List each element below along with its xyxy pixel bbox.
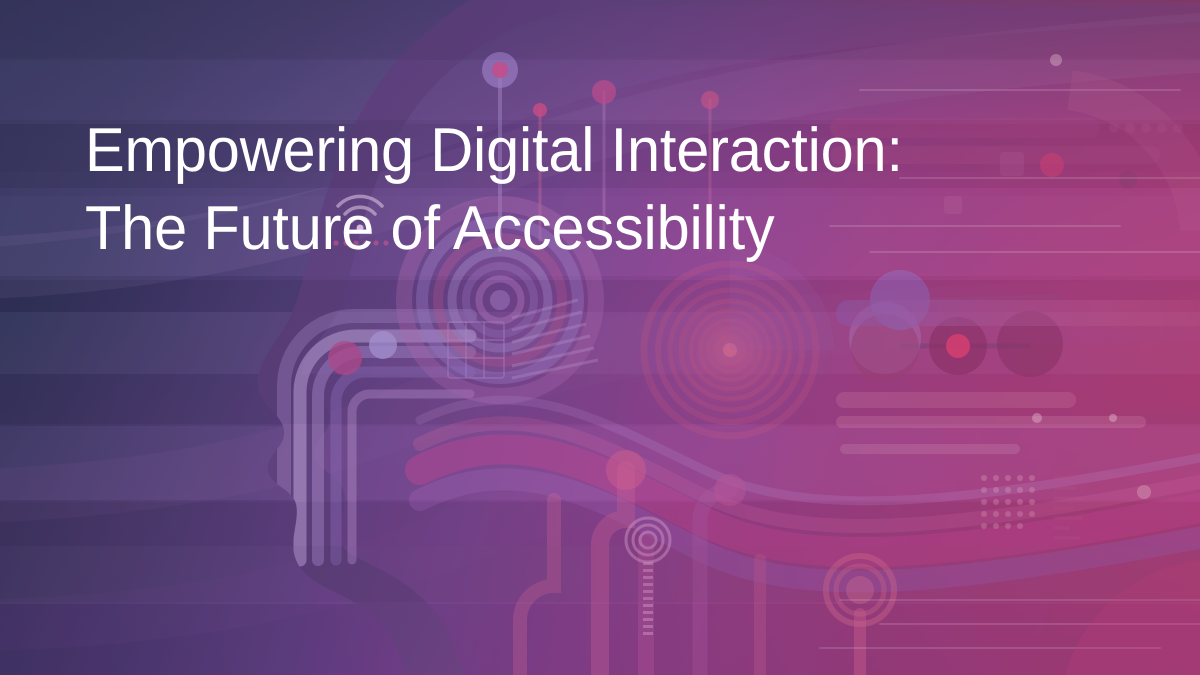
- horizontal-band-group-overlay: [0, 0, 1200, 675]
- band: [0, 424, 1200, 502]
- band: [0, 546, 1200, 602]
- title-slide: Empowering Digital Interaction: The Futu…: [0, 0, 1200, 675]
- band: [0, 60, 1200, 120]
- band: [0, 188, 1200, 280]
